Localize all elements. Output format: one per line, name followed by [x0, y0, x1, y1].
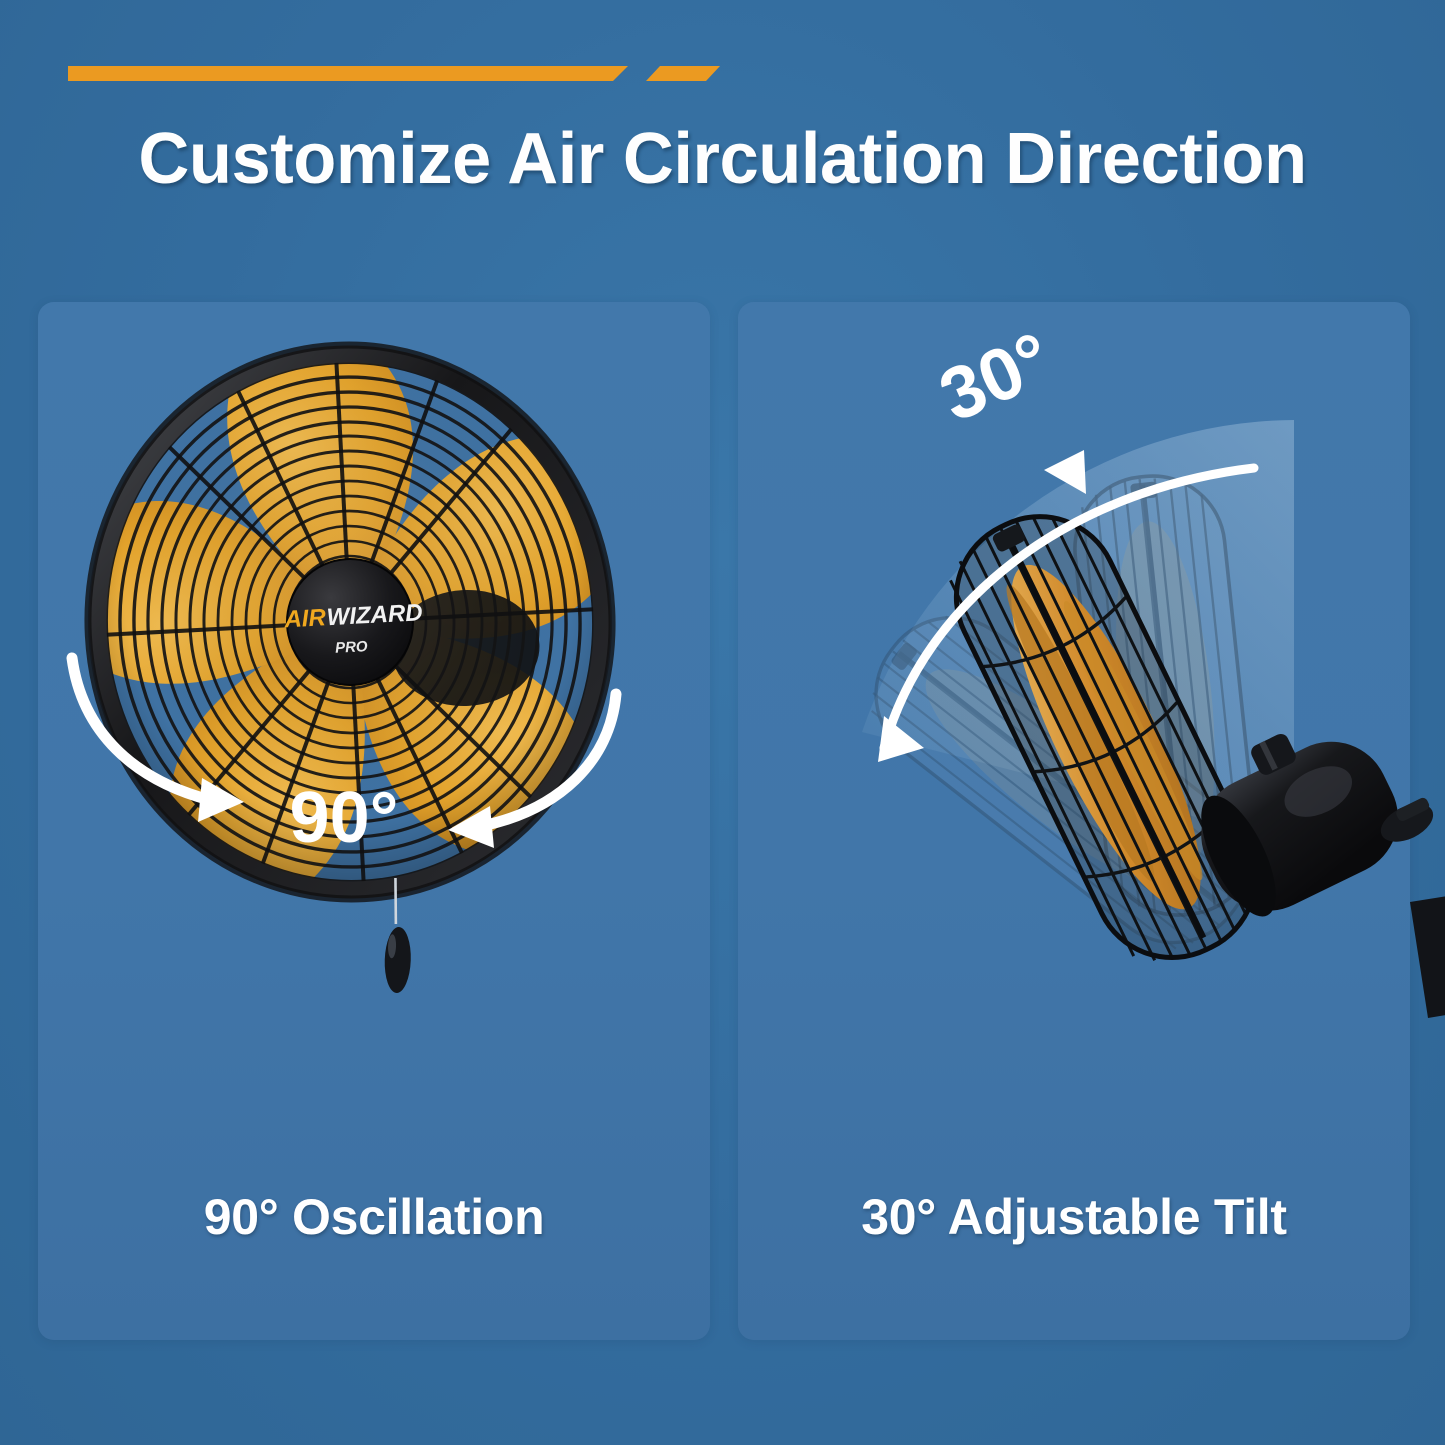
accent-rule-tip: [646, 66, 720, 81]
panel-caption-tilt: 30° Adjustable Tilt: [738, 1188, 1410, 1246]
oscillation-angle-label: 90°: [290, 778, 399, 858]
accent-rule-bar: [68, 66, 628, 81]
pull-chain-knob: [384, 927, 412, 994]
mount-arm: [1410, 888, 1445, 1018]
hub-logo-pro: PRO: [335, 638, 369, 657]
infographic-canvas: Customize Air Circulation Direction: [0, 0, 1445, 1445]
panel-caption-oscillation: 90° Oscillation: [38, 1188, 710, 1246]
hub-logo-air: AIR: [283, 604, 327, 633]
tilt-angle-label: 30°: [928, 316, 1064, 437]
fan-tilt-illustration: 30°: [738, 302, 1410, 1202]
hub-logo-wizard: WIZARD: [326, 599, 423, 631]
page-title: Customize Air Circulation Direction: [14, 118, 1430, 200]
panel-tilt: 30° 30° Adjustable Tilt: [738, 302, 1410, 1340]
fan-front-illustration: AIR WIZARD PRO 90°: [38, 302, 710, 1202]
fan-assembly: AIR WIZARD PRO: [7, 271, 680, 1012]
panel-oscillation: AIR WIZARD PRO 90°: [38, 302, 710, 1340]
